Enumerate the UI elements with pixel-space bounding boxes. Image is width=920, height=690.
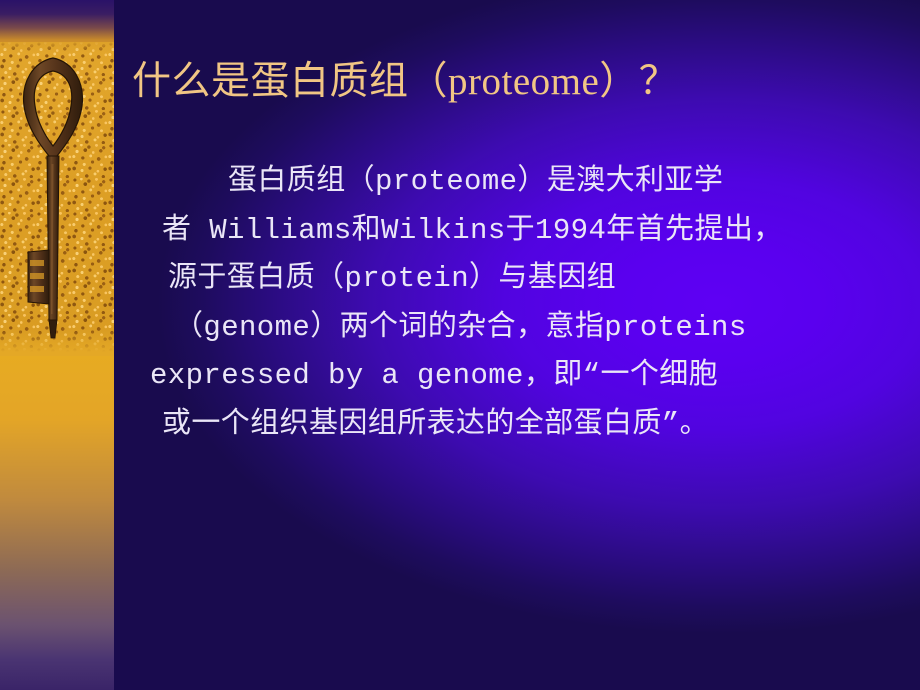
sidebar-decoration-band <box>0 0 114 690</box>
presentation-slide: 什么是蛋白质组（proteome）？ 蛋白质组（proteome）是澳大利亚学 … <box>0 0 920 690</box>
body-line-3: 源于蛋白质（protein）与基因组 <box>150 255 870 304</box>
slide-body-text: 蛋白质组（proteome）是澳大利亚学 者 Williams和Wilkins于… <box>150 158 870 449</box>
key-icon <box>16 52 90 344</box>
sand-fade-top <box>0 42 114 52</box>
body-line-5: expressed by a genome，即“一个细胞 <box>150 352 870 401</box>
slide-title: 什么是蛋白质组（proteome）？ <box>132 62 832 103</box>
body-line-6: 或一个组织基因组所表达的全部蛋白质”。 <box>150 401 870 450</box>
body-line-4: （genome）两个词的杂合，意指proteins <box>150 304 870 353</box>
body-line-2: 者 Williams和Wilkins于1994年首先提出， <box>150 207 870 256</box>
body-line-1: 蛋白质组（proteome）是澳大利亚学 <box>150 158 870 207</box>
